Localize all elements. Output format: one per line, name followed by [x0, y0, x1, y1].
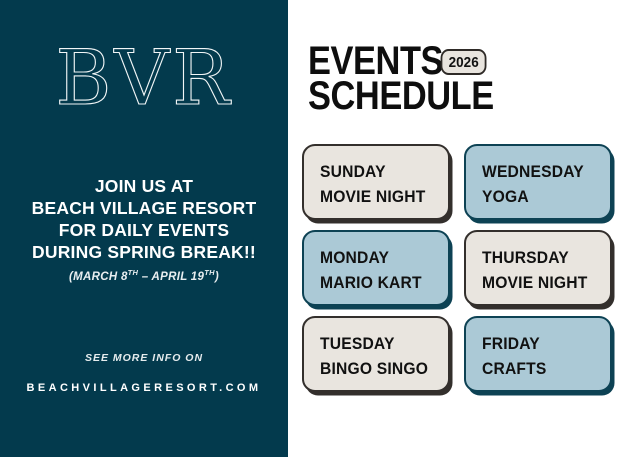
event-card-day: FRIDAY	[482, 331, 600, 356]
invite-line-3: FOR DAILY EVENTS	[0, 219, 288, 241]
event-card-activity: MARIO KART	[320, 270, 438, 295]
invite-line-2: BEACH VILLAGE RESORT	[0, 197, 288, 219]
date-range-prefix: (MARCH 8	[69, 271, 128, 283]
event-card-day: THURSDAY	[482, 245, 600, 270]
event-card[interactable]: MONDAY MARIO KART	[302, 230, 450, 306]
invite-line-1: JOIN US AT	[0, 175, 288, 197]
see-more-info-label: SEE MORE INFO ON	[0, 352, 288, 364]
event-card-day: MONDAY	[320, 245, 438, 270]
event-card-activity: BINGO SINGO	[320, 356, 438, 381]
invitation-block: JOIN US AT BEACH VILLAGE RESORT FOR DAIL…	[0, 175, 288, 283]
bvr-logo: BVR	[0, 40, 288, 116]
event-card-activity: CRAFTS	[482, 356, 600, 381]
date-range-middle: – APRIL 19	[138, 271, 204, 283]
invite-line-4: DURING SPRING BREAK!!	[0, 241, 288, 263]
event-card[interactable]: WEDNESDAY YOGA	[464, 144, 612, 220]
event-card[interactable]: SUNDAY MOVIE NIGHT	[302, 144, 450, 220]
event-card[interactable]: THURSDAY MOVIE NIGHT	[464, 230, 612, 306]
event-card[interactable]: TUESDAY BINGO SINGO	[302, 316, 450, 392]
event-card-day: SUNDAY	[320, 159, 438, 184]
event-card-activity: MOVIE NIGHT	[482, 270, 600, 295]
event-date-range: (MARCH 8TH – APRIL 19TH)	[0, 268, 288, 283]
event-card-activity: MOVIE NIGHT	[320, 184, 438, 209]
date-ordinal-start: TH	[128, 268, 139, 277]
page-title-schedule: SCHEDULE	[308, 79, 583, 114]
date-range-suffix: )	[215, 271, 219, 283]
website-url[interactable]: BEACHVILLAGERESORT.COM	[0, 382, 288, 394]
schedule-title: EVENTS 2026 SCHEDULE	[308, 44, 628, 114]
event-card-day: WEDNESDAY	[482, 159, 600, 184]
more-info-block: SEE MORE INFO ON BEACHVILLAGERESORT.COM	[0, 352, 288, 394]
events-schedule-poster: BVR JOIN US AT BEACH VILLAGE RESORT FOR …	[0, 0, 640, 457]
event-card-grid: SUNDAY MOVIE NIGHT WEDNESDAY YOGA MONDAY…	[302, 144, 612, 392]
event-card-activity: YOGA	[482, 184, 600, 209]
year-badge: 2026	[441, 49, 487, 75]
branding-panel: BVR JOIN US AT BEACH VILLAGE RESORT FOR …	[0, 0, 288, 457]
date-ordinal-end: TH	[204, 268, 215, 277]
event-card[interactable]: FRIDAY CRAFTS	[464, 316, 612, 392]
schedule-panel: EVENTS 2026 SCHEDULE SUNDAY MOVIE NIGHT …	[288, 0, 640, 457]
event-card-day: TUESDAY	[320, 331, 438, 356]
